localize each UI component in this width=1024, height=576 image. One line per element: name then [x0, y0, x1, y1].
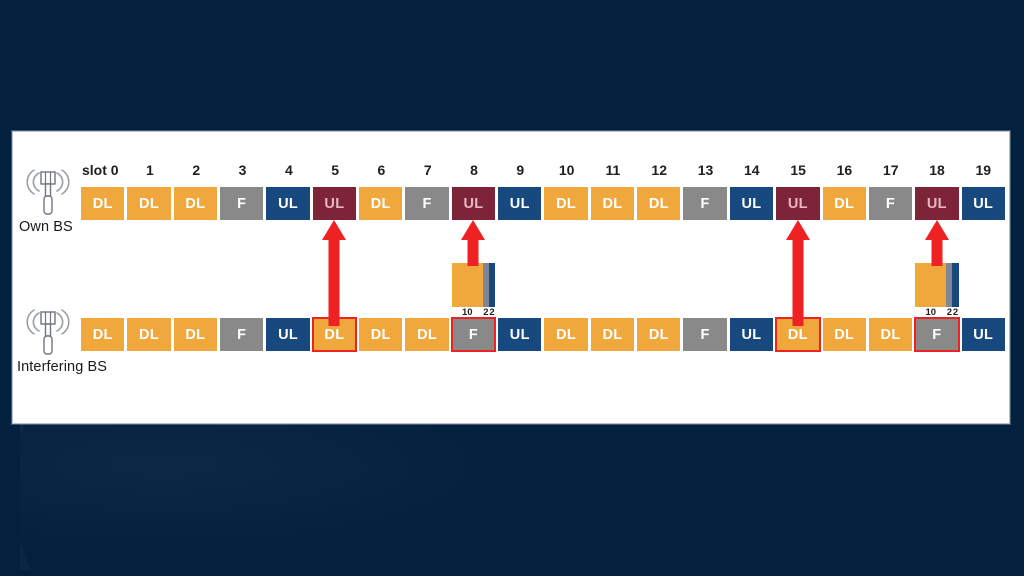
up-arrow-icon [785, 220, 811, 326]
own-bs-slot-19[interactable]: UL [962, 187, 1005, 220]
own-bs-slot-1[interactable]: DL [127, 187, 170, 220]
own-bs-label: Own BS [19, 219, 77, 235]
up-arrow-icon [924, 220, 950, 266]
own-bs-slot-14[interactable]: UL [730, 187, 773, 220]
interfering-bs-slot-4[interactable]: UL [266, 318, 309, 351]
split-bar-slot-8: 1022 [452, 263, 495, 307]
slot-number-17: 17 [869, 162, 912, 178]
cell-tower-icon [19, 300, 77, 358]
interfering-bs-label: Interfering BS [17, 359, 77, 375]
interfering-bs-slot-16[interactable]: DL [823, 318, 866, 351]
up-arrow-icon [460, 220, 486, 266]
slot-number-1: 1 [128, 162, 171, 178]
up-arrow-icon [321, 220, 347, 326]
interfering-bs-slot-9[interactable]: UL [498, 318, 541, 351]
interfering-bs-slot-3[interactable]: F [220, 318, 263, 351]
interference-arrow-slot-8[interactable] [460, 220, 486, 266]
own-bs-slot-strip: DLDLDLFULULDLFULULDLDLDLFULULDLFULUL [81, 187, 1005, 220]
interfering-bs-slot-13[interactable]: F [683, 318, 726, 351]
own-bs-slot-17[interactable]: F [869, 187, 912, 220]
own-bs-slot-16[interactable]: DL [823, 187, 866, 220]
own-bs-slot-3[interactable]: F [220, 187, 263, 220]
interfering-bs-slot-10[interactable]: DL [544, 318, 587, 351]
slot-number-6: 6 [360, 162, 403, 178]
interference-arrow-slot-15[interactable] [785, 220, 811, 326]
interfering-bs-slot-11[interactable]: DL [591, 318, 634, 351]
slot-number-10: 10 [545, 162, 588, 178]
slot-number-16: 16 [823, 162, 866, 178]
interfering-bs-slot-0[interactable]: DL [81, 318, 124, 351]
interfering-bs-slot-12[interactable]: DL [637, 318, 680, 351]
slot-number-18: 18 [915, 162, 958, 178]
interfering-bs-slot-18[interactable]: F [915, 318, 958, 351]
own-bs-slot-8[interactable]: UL [452, 187, 495, 220]
slot-number-axis: slot 012345678910111213141516171819 [81, 162, 1005, 178]
own-bs-slot-5[interactable]: UL [313, 187, 356, 220]
split-bar-segment-downlink-symbols-slot-18 [915, 263, 946, 307]
slot-number-7: 7 [406, 162, 449, 178]
own-bs-slot-0[interactable]: DL [81, 187, 124, 220]
slot-number-14: 14 [730, 162, 773, 178]
interfering-bs-slot-2[interactable]: DL [174, 318, 217, 351]
split-bar-value-uplink-symbols-slot-18: 2 [952, 308, 958, 318]
own-bs-slot-7[interactable]: F [405, 187, 448, 220]
interfering-bs-slot-8[interactable]: F [452, 318, 495, 351]
split-bar-value-downlink-symbols-slot-8: 10 [452, 308, 483, 318]
slot-number-15: 15 [776, 162, 819, 178]
interfering-bs-legend: Interfering BS [19, 300, 77, 375]
interfering-bs-slot-17[interactable]: DL [869, 318, 912, 351]
interfering-bs-slot-7[interactable]: DL [405, 318, 448, 351]
interference-arrow-slot-5[interactable] [321, 220, 347, 326]
slot-number-5: 5 [313, 162, 356, 178]
own-bs-slot-4[interactable]: UL [266, 187, 309, 220]
slot-number-8: 8 [452, 162, 495, 178]
split-bar-value-uplink-symbols-slot-8: 2 [489, 308, 495, 318]
slot-number-2: 2 [175, 162, 218, 178]
interfering-bs-slot-19[interactable]: UL [962, 318, 1005, 351]
split-bar-segment-downlink-symbols-slot-8 [452, 263, 483, 307]
split-bar-slot-18: 1022 [915, 263, 958, 307]
split-bar-segment-uplink-symbols-slot-8 [489, 263, 495, 307]
own-bs-slot-15[interactable]: UL [776, 187, 819, 220]
slot-number-3: 3 [221, 162, 264, 178]
own-bs-slot-10[interactable]: DL [544, 187, 587, 220]
own-bs-legend: Own BS [19, 160, 77, 235]
own-bs-slot-9[interactable]: UL [498, 187, 541, 220]
slot-number-12: 12 [638, 162, 681, 178]
own-bs-slot-13[interactable]: F [683, 187, 726, 220]
split-bar-value-downlink-symbols-slot-18: 10 [915, 308, 946, 318]
slot-number-0: slot 0 [81, 162, 125, 178]
interfering-bs-slot-strip: DLDLDLFULDLDLDLFULDLDLDLFULDLDLDLFUL [81, 318, 1005, 351]
slot-number-11: 11 [591, 162, 634, 178]
own-bs-slot-11[interactable]: DL [591, 187, 634, 220]
cell-tower-icon [19, 160, 77, 218]
slot-number-4: 4 [267, 162, 310, 178]
interfering-bs-slot-14[interactable]: UL [730, 318, 773, 351]
interfering-bs-slot-1[interactable]: DL [127, 318, 170, 351]
split-bar-segment-uplink-symbols-slot-18 [952, 263, 958, 307]
slot-number-19: 19 [962, 162, 1005, 178]
slot-number-13: 13 [684, 162, 727, 178]
own-bs-slot-12[interactable]: DL [637, 187, 680, 220]
split-bar-labels-slot-18: 1022 [915, 308, 958, 318]
slide-card: Own BS Interfering BS slot 0123456789101… [12, 131, 1010, 424]
own-bs-slot-18[interactable]: UL [915, 187, 958, 220]
background-ghost-image [20, 420, 600, 570]
interference-arrow-slot-18[interactable] [924, 220, 950, 266]
interfering-bs-slot-6[interactable]: DL [359, 318, 402, 351]
slot-number-9: 9 [499, 162, 542, 178]
split-bar-labels-slot-8: 1022 [452, 308, 495, 318]
own-bs-slot-2[interactable]: DL [174, 187, 217, 220]
own-bs-slot-6[interactable]: DL [359, 187, 402, 220]
